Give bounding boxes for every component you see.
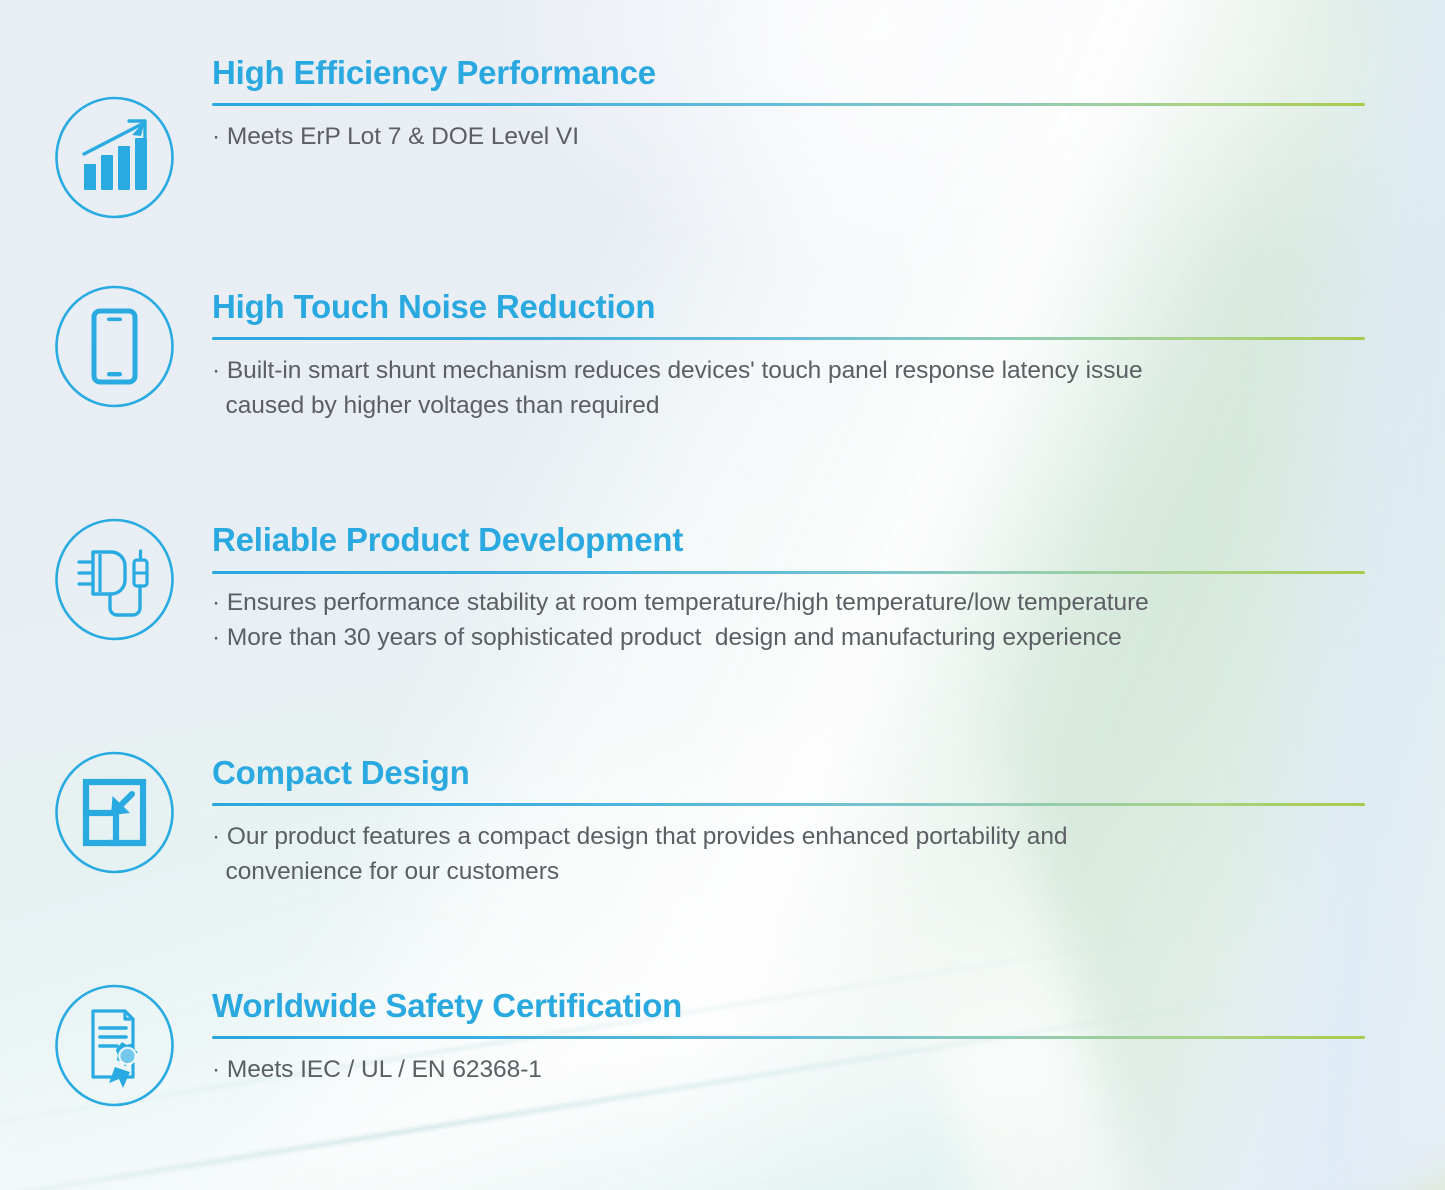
feature-body: High Touch Noise Reduction · Built-in sm… xyxy=(212,290,1365,424)
feature-divider xyxy=(212,571,1365,574)
smartphone-icon xyxy=(53,285,176,408)
feature-divider xyxy=(212,803,1365,806)
feature-description: · Meets ErP Lot 7 & DOE Level VI xyxy=(212,119,1365,155)
feature-body: Reliable Product Development · Ensures p… xyxy=(212,523,1365,656)
compact-resize-icon xyxy=(53,751,176,874)
feature-description: · Built-in smart shunt mechanism reduces… xyxy=(212,353,1365,425)
feature-body: High Efficiency Performance · Meets ErP … xyxy=(212,56,1365,154)
feature-divider xyxy=(212,103,1365,106)
feature-divider xyxy=(212,1036,1365,1039)
feature-list: High Efficiency Performance · Meets ErP … xyxy=(0,0,1445,1190)
feature-description: · Our product features a compact design … xyxy=(212,819,1365,891)
bar-chart-growth-icon xyxy=(53,96,176,219)
feature-title: High Efficiency Performance xyxy=(212,56,1365,90)
feature-divider xyxy=(212,337,1365,340)
feature-title: Reliable Product Development xyxy=(212,523,1365,557)
feature-title: Compact Design xyxy=(212,756,1365,790)
feature-title: High Touch Noise Reduction xyxy=(212,290,1365,324)
power-adapter-icon xyxy=(53,518,176,641)
feature-body: Compact Design · Our product features a … xyxy=(212,756,1365,890)
feature-description: · Ensures performance stability at room … xyxy=(212,585,1365,657)
certificate-ribbon-icon xyxy=(53,984,176,1107)
feature-body: Worldwide Safety Certification · Meets I… xyxy=(212,989,1365,1087)
feature-description: · Meets IEC / UL / EN 62368-1 xyxy=(212,1052,1365,1088)
feature-title: Worldwide Safety Certification xyxy=(212,989,1365,1023)
